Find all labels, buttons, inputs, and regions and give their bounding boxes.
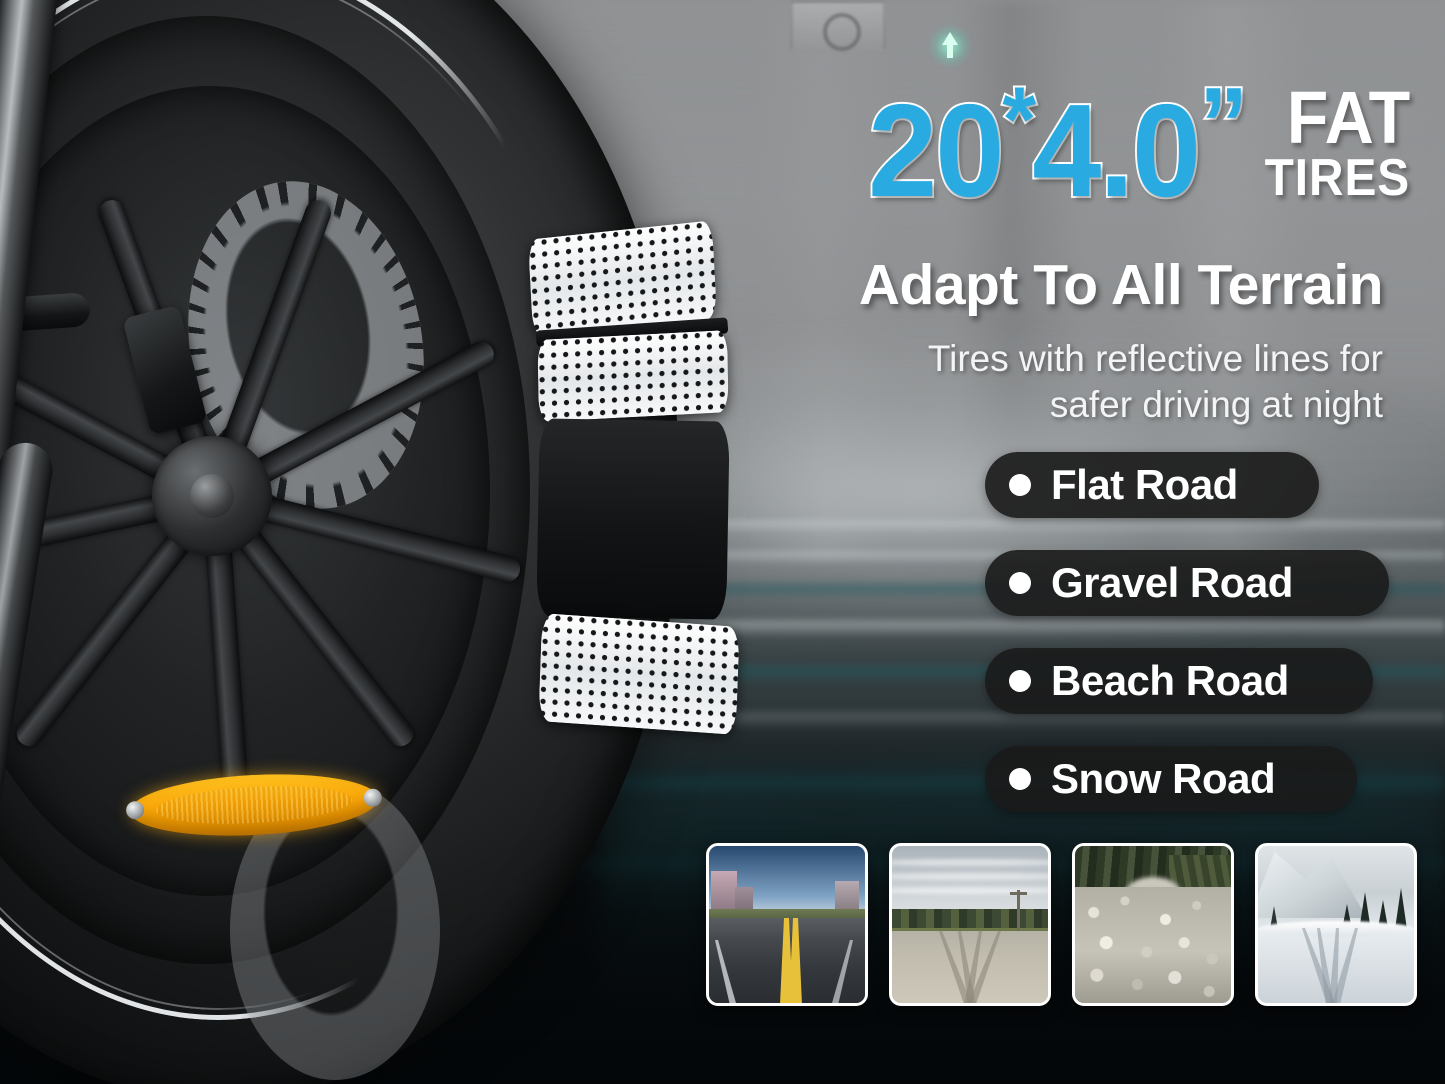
subtext-line-1: Tires with reflective lines for bbox=[928, 336, 1383, 382]
thumbnail-gravel-dirt-road[interactable] bbox=[889, 843, 1051, 1006]
cloud bbox=[889, 873, 1051, 880]
terrain-thumbnail-strip bbox=[706, 843, 1417, 1006]
subtext-block: Tires with reflective lines for safer dr… bbox=[928, 336, 1383, 429]
utility-pole bbox=[1017, 890, 1020, 934]
marketing-copy-panel: 20*4.0” FAT TIRES Adapt To All Terrain T… bbox=[0, 0, 1445, 1084]
terrain-pill-snow-road[interactable]: Snow Road bbox=[985, 746, 1357, 812]
product-feature-banner: 20*4.0” FAT TIRES Adapt To All Terrain T… bbox=[0, 0, 1445, 1084]
terrain-pill-list: Flat Road Gravel Road Beach Road Snow Ro… bbox=[985, 452, 1395, 844]
tagline: Adapt To All Terrain bbox=[859, 252, 1383, 318]
inch-mark: ” bbox=[1199, 67, 1246, 183]
subtext-line-2: safer driving at night bbox=[928, 382, 1383, 428]
fat-label: FAT bbox=[1286, 84, 1410, 152]
gravel-stones bbox=[1075, 887, 1231, 1003]
cloud bbox=[889, 859, 1051, 866]
terrain-pill-beach-road[interactable]: Beach Road bbox=[985, 648, 1373, 714]
tire-size-headline: 20*4.0” bbox=[868, 78, 1246, 211]
thumbnail-snow-road[interactable] bbox=[1255, 843, 1417, 1006]
bullet-icon bbox=[1009, 474, 1031, 496]
terrain-pill-label: Snow Road bbox=[1051, 755, 1275, 803]
terrain-pill-label: Flat Road bbox=[1051, 461, 1238, 509]
bullet-icon bbox=[1009, 768, 1031, 790]
bullet-icon bbox=[1009, 572, 1031, 594]
headline-row: 20*4.0” FAT TIRES bbox=[600, 78, 1410, 211]
bullet-icon bbox=[1009, 670, 1031, 692]
tire-diameter-value: 20 bbox=[868, 77, 1002, 224]
thumbnail-flat-paved-road[interactable] bbox=[706, 843, 868, 1006]
tire-width-value: 4.0 bbox=[1032, 77, 1199, 224]
terrain-pill-label: Beach Road bbox=[1051, 657, 1289, 705]
fat-tires-block: FAT TIRES bbox=[1252, 84, 1410, 204]
terrain-pill-label: Gravel Road bbox=[1051, 559, 1293, 607]
tires-label: TIRES bbox=[1265, 152, 1410, 204]
multiply-symbol: * bbox=[1002, 69, 1032, 171]
terrain-pill-gravel-road[interactable]: Gravel Road bbox=[985, 550, 1389, 616]
thumbnail-rocky-gravel-road[interactable] bbox=[1072, 843, 1234, 1006]
terrain-pill-flat-road[interactable]: Flat Road bbox=[985, 452, 1319, 518]
